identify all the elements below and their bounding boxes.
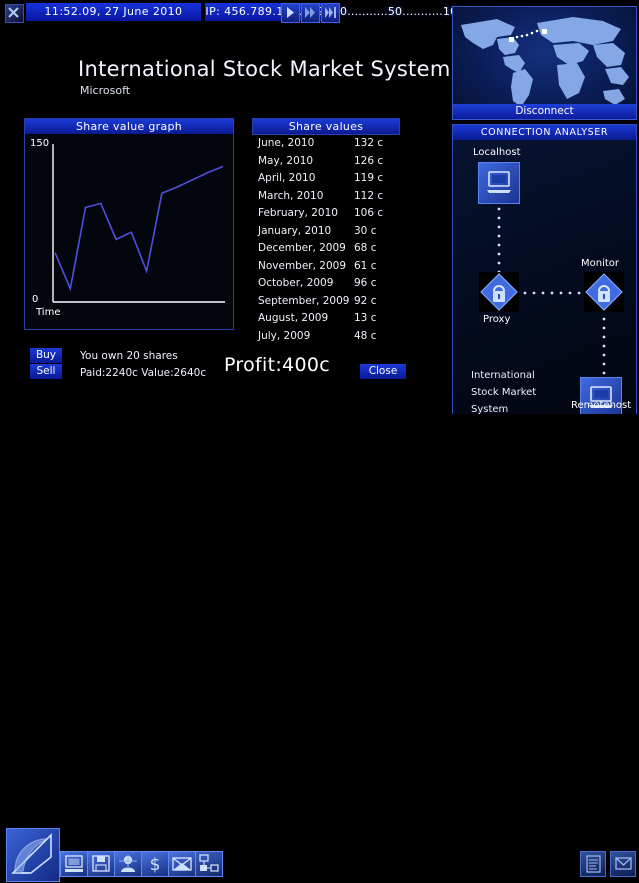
share-value-amount: 106 c [354,205,394,223]
values-header: Share values [252,118,400,135]
envelope-icon[interactable] [168,851,196,877]
proxy-label: Proxy [483,314,510,325]
share-value-graph-panel: Share value graph 150 0 Time [24,118,234,330]
share-value-row: March, 2010112 c [252,188,400,206]
share-value-month: August, 2009 [258,310,328,328]
proxy-lock-icon[interactable] [479,272,519,312]
share-value-month: January, 2010 [258,223,331,241]
share-value-row: June, 2010132 c [252,135,400,153]
graph-header: Share value graph [25,119,233,134]
share-value-month: June, 2010 [258,135,314,153]
share-value-month: October, 2009 [258,275,333,293]
share-value-amount: 48 c [354,328,394,346]
share-value-month: May, 2010 [258,153,313,171]
localhost-computer-icon[interactable] [478,162,520,204]
share-values-list: June, 2010132 cMay, 2010126 cApril, 2010… [252,135,400,345]
share-value-amount: 112 c [354,188,394,206]
share-value-amount: 119 c [354,170,394,188]
shares-owned-text: You own 20 shares [80,350,178,362]
share-value-amount: 132 c [354,135,394,153]
localhost-proxy-link [496,205,502,275]
share-value-amount: 96 c [354,275,394,293]
buy-button[interactable]: Buy [30,348,62,363]
graph-plot-area: 150 0 Time [25,134,233,328]
share-value-amount: 13 c [354,310,394,328]
share-value-month: September, 2009 [258,293,349,311]
taskbar: $ [0,414,639,479]
connection-analyser-panel: CONNECTION ANALYSER Localhost Proxy Mo [452,124,637,416]
plot-line [25,134,231,328]
profit-text: Profit:400c [224,354,330,376]
sell-button[interactable]: Sell [30,364,62,379]
share-value-amount: 61 c [354,258,394,276]
person-globe-icon[interactable] [114,851,142,877]
share-value-row: October, 200996 c [252,275,400,293]
localhost-label: Localhost [473,147,521,158]
share-value-row: May, 2010126 c [252,153,400,171]
play-icon[interactable] [281,3,300,23]
svg-text:$: $ [150,855,161,873]
share-value-row: January, 201030 c [252,223,400,241]
share-value-row: July, 200948 c [252,328,400,346]
share-values-panel: Share values June, 2010132 cMay, 2010126… [252,118,400,338]
disconnect-button[interactable]: Disconnect [453,104,636,119]
target-name-line1: International [471,370,535,381]
connection-analyser-header: CONNECTION ANALYSER [453,125,636,140]
share-value-month: November, 2009 [258,258,346,276]
share-value-row: December, 200968 c [252,240,400,258]
dollar-sign-icon[interactable]: $ [141,851,169,877]
share-value-amount: 92 c [354,293,394,311]
fast-forward-icon[interactable] [301,3,320,23]
paid-value-text: Paid:2240c Value:2640c [80,367,206,379]
skip-forward-icon[interactable] [321,3,340,23]
share-value-row: February, 2010106 c [252,205,400,223]
remotehost-computer-icon[interactable] [580,377,622,419]
document-icon[interactable] [580,851,606,877]
clock-display: 11:52.09, 27 June 2010 [26,3,201,21]
world-map-panel: Disconnect [452,6,637,120]
monitor-label: Monitor [581,258,619,269]
share-value-row: April, 2010119 c [252,170,400,188]
floppy-disk-icon[interactable] [87,851,115,877]
page-title: International Stock Market System [78,57,451,81]
share-value-amount: 68 c [354,240,394,258]
share-value-amount: 126 c [354,153,394,171]
share-value-month: December, 2009 [258,240,346,258]
trade-button-group: Buy Sell [30,348,62,380]
mail-icon[interactable] [610,851,636,877]
close-x-icon[interactable] [5,4,24,23]
share-value-row: August, 200913 c [252,310,400,328]
share-value-row: September, 200992 c [252,293,400,311]
share-value-month: April, 2010 [258,170,315,188]
share-value-month: February, 2010 [258,205,338,223]
world-map-graphic [453,7,634,117]
proxy-monitor-link [521,290,593,296]
satellite-dish-icon[interactable] [6,828,60,882]
page-subtitle: Microsoft [80,84,130,97]
monitor-remotehost-link [601,315,607,377]
monitor-lock-icon[interactable] [584,272,624,312]
share-value-month: March, 2010 [258,188,323,206]
share-value-row: November, 200961 c [252,258,400,276]
target-name-line2: Stock Market [471,387,536,398]
remotehost-label: Remotehost [571,400,631,411]
network-icon[interactable] [195,851,223,877]
desktop-screen: 11:52.09, 27 June 2010 IP: 456.789.159.4… [0,0,639,479]
computer-icon[interactable] [60,851,88,877]
share-value-month: July, 2009 [258,328,310,346]
close-button[interactable]: Close [360,364,406,379]
share-value-amount: 30 c [354,223,394,241]
